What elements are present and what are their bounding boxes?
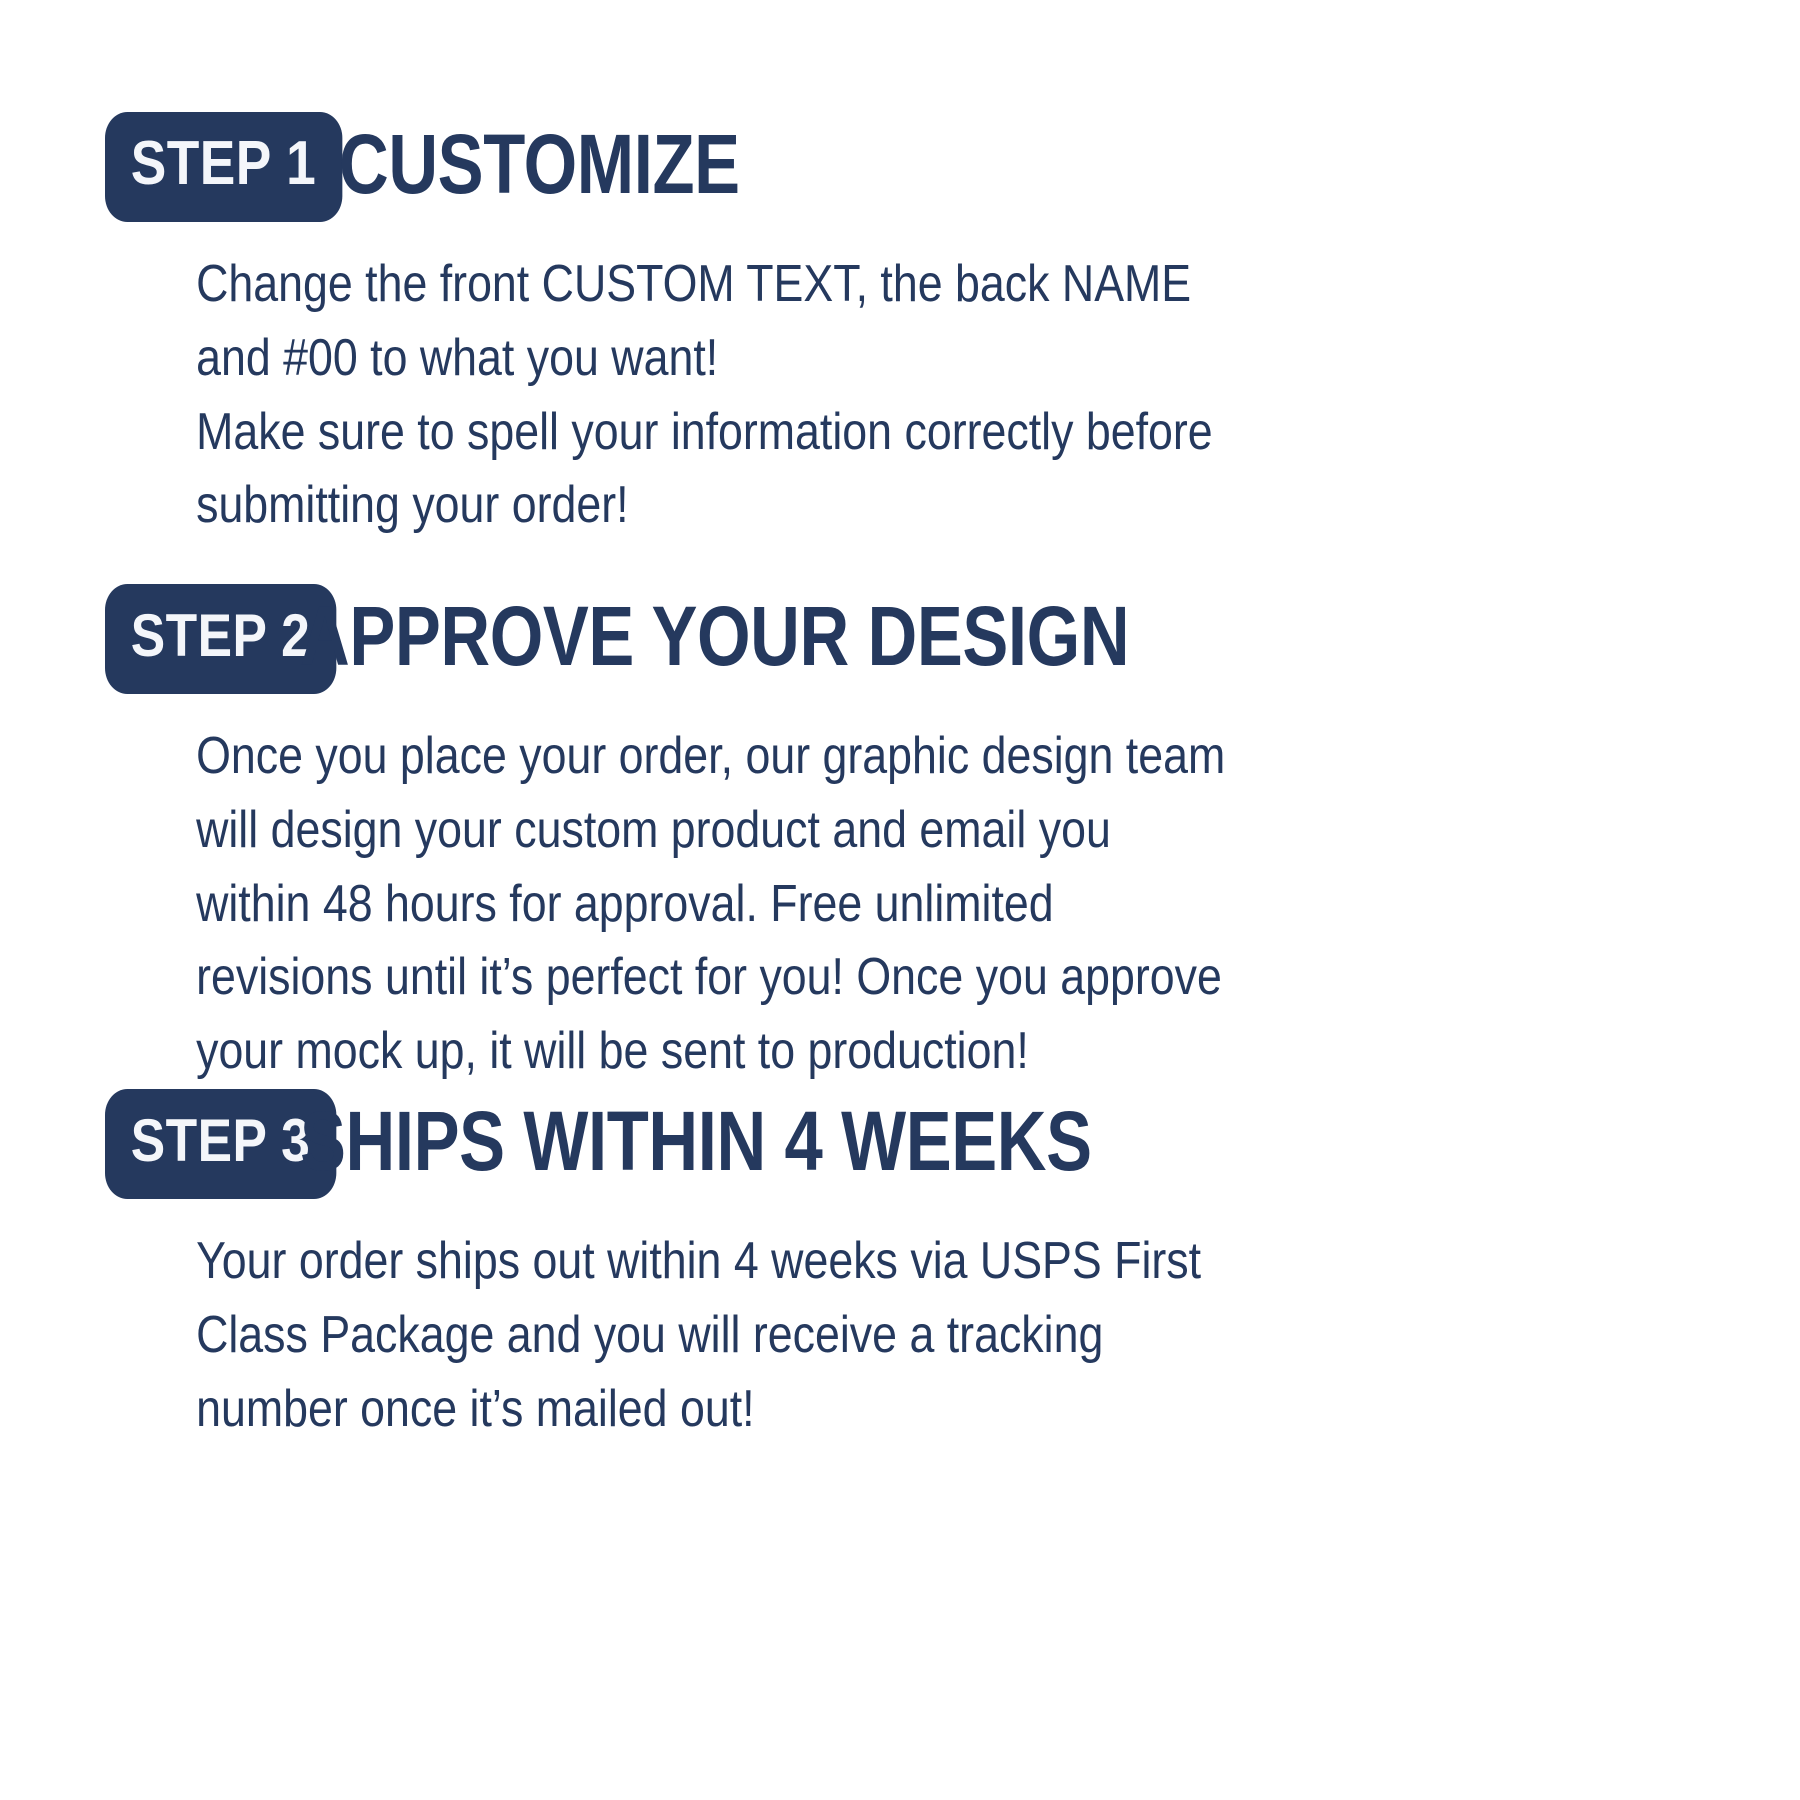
step-header-2: STEP 2 APPROVE YOUR DESIGN bbox=[0, 580, 1800, 698]
step-body-text-2: Once you place your order, our graphic d… bbox=[196, 720, 1230, 1089]
instructions-page: STEP 1 CUSTOMIZE Change the front CUSTOM… bbox=[0, 0, 1800, 1800]
step-block-1: STEP 1 CUSTOMIZE Change the front CUSTOM… bbox=[0, 108, 1800, 543]
step-block-2: STEP 2 APPROVE YOUR DESIGN Once you plac… bbox=[0, 580, 1800, 1089]
step-body-text-1: Change the front CUSTOM TEXT, the back N… bbox=[196, 248, 1230, 543]
step-header-1: STEP 1 CUSTOMIZE bbox=[0, 108, 1800, 226]
step-body-3: Your order ships out within 4 weeks via … bbox=[0, 1225, 1514, 1446]
step-title-1: CUSTOMIZE bbox=[339, 122, 740, 212]
step-block-3: STEP 3 SHIPS WITHIN 4 WEEKS Your order s… bbox=[0, 1085, 1800, 1446]
step-title-2: APPROVE YOUR DESIGN bbox=[300, 594, 1129, 684]
step-body-1: Change the front CUSTOM TEXT, the back N… bbox=[0, 248, 1514, 543]
step-body-2: Once you place your order, our graphic d… bbox=[0, 720, 1514, 1089]
step-title-3: SHIPS WITHIN 4 WEEKS bbox=[300, 1099, 1092, 1189]
step-header-3: STEP 3 SHIPS WITHIN 4 WEEKS bbox=[0, 1085, 1800, 1203]
step-body-text-3: Your order ships out within 4 weeks via … bbox=[196, 1225, 1230, 1446]
step-badge-1: STEP 1 bbox=[105, 112, 342, 222]
